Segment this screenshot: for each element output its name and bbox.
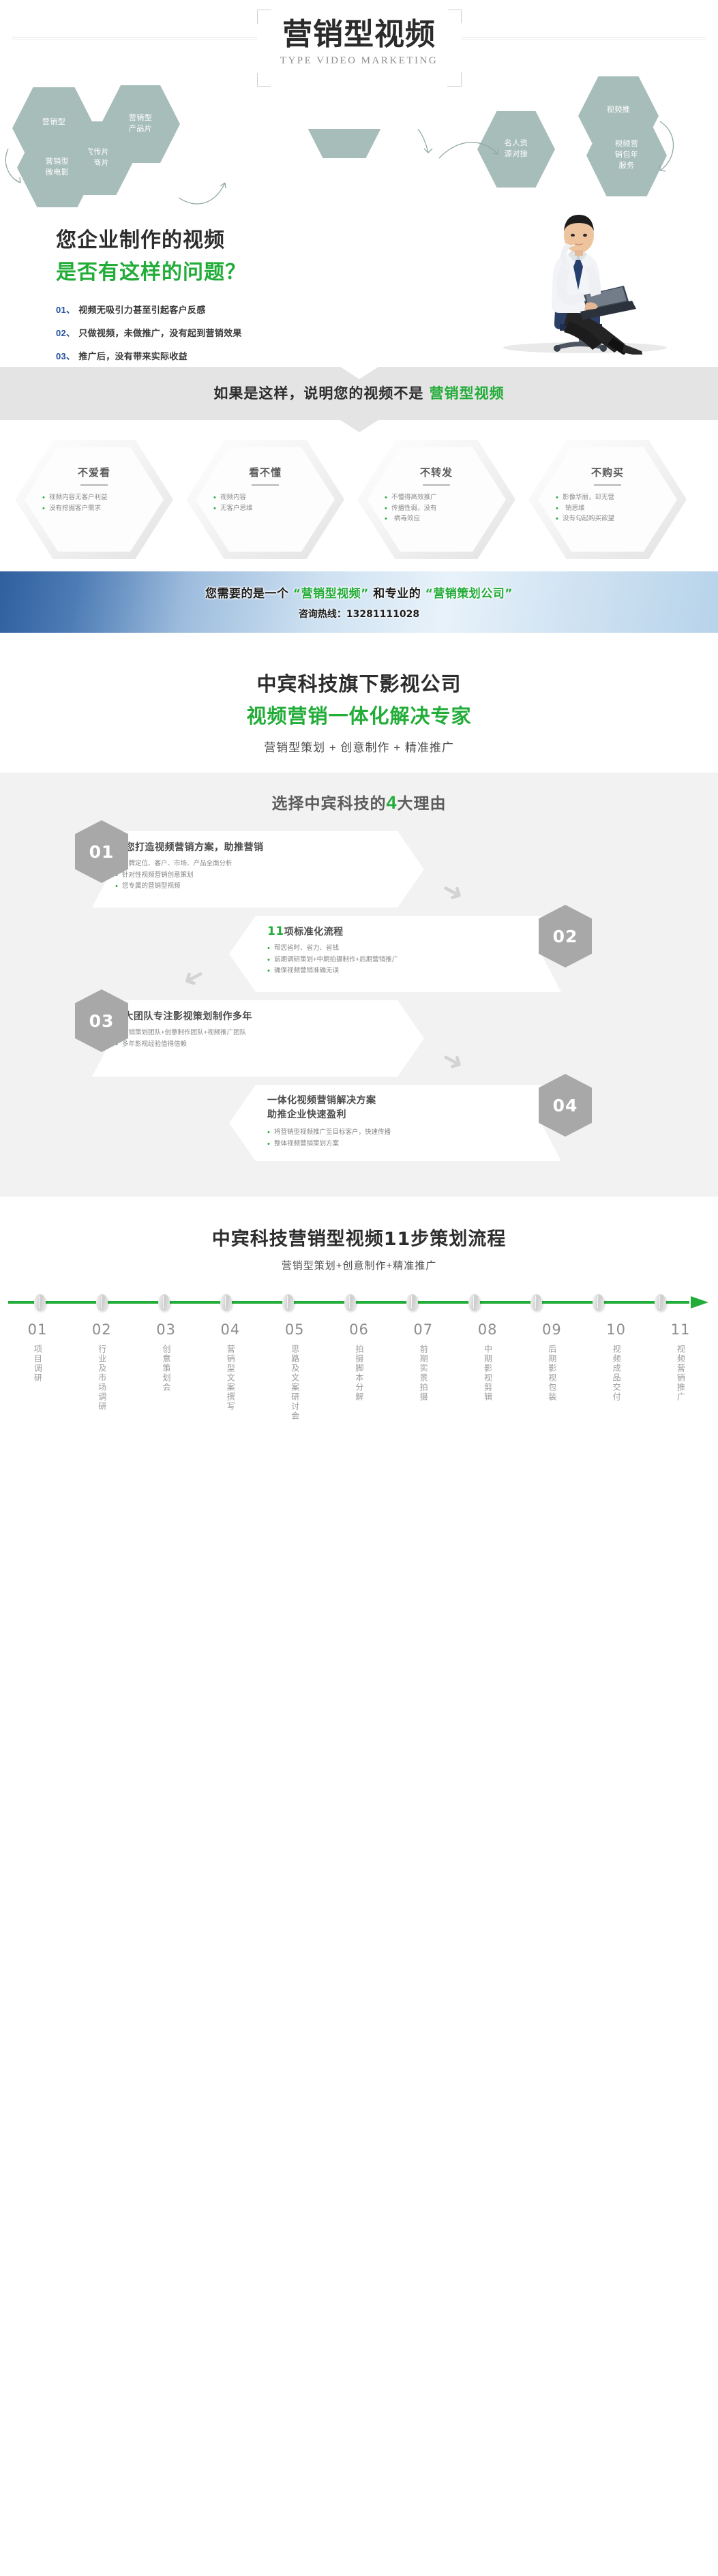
step-item[interactable]: 11 视频营销推广 (661, 1321, 700, 1424)
reasons-section: 选择中宾科技的4大理由 帮您打造视频营销方案，助推营销 品牌定位、客户、市场、产… (0, 773, 718, 1197)
reason-badge-02: 02 (539, 905, 592, 968)
reasons-title-number: 4 (386, 792, 397, 813)
steps-title: 中宾科技营销型视频11步策划流程 (0, 1224, 718, 1250)
timeline-node-icon (530, 1294, 542, 1311)
problem-item-text: 推广后，没有带来实际收益 (78, 351, 188, 361)
problem-hex-row: 不爱看 视频内容无客户利益 没有挖掘客户需求 看不懂 视频内容 无客户思维 不转… (0, 440, 718, 559)
reason-heading-number: 11 (267, 925, 284, 938)
reason-heading-text: 大团队专注影视策划制作多年 (123, 1011, 252, 1022)
problem-item-text: 只做视频，未做推广，没有起到营销效果 (78, 328, 241, 338)
reason-row: 11项标准化流程 帮您省时、省力、省钱 前期调研策划+中期拍摄制作+后期营销推广… (0, 916, 718, 994)
step-number: 04 (211, 1321, 250, 1338)
reasons-title-suffix: 大理由 (398, 794, 447, 812)
problem-hex-bullet: 无客户思维 (216, 503, 314, 514)
problem-item-number: 03、 (56, 351, 75, 361)
page-header: 营销型视频 TYPE VIDEO MARKETING (0, 0, 718, 82)
reason-heading: 11项标准化流程 (267, 925, 534, 938)
curved-arrow-icon: ➜ (178, 961, 209, 995)
step-item[interactable]: 04 营销型文案撰写 (211, 1321, 250, 1424)
reason-row: 帮您打造视频营销方案，助推营销 品牌定位、客户、市场、产品全面分析 针对性视频营… (0, 831, 718, 910)
reason-row: 一体化视频营销解决方案 助推企业快速盈利 将营销型视频推广至目标客户，快速传播 … (0, 1085, 718, 1163)
problem-hex-bullet: 视频内容 (216, 492, 314, 503)
problem-hex-bullet: 传播性弱，没有 (387, 503, 485, 514)
step-number: 07 (404, 1321, 443, 1338)
step-number: 01 (18, 1321, 57, 1338)
problem-hex-title: 看不懂 (216, 465, 314, 479)
reasons-title-prefix: 选择中宾科技的 (271, 794, 386, 812)
blue-band: 您需要的是一个 “营销型视频” 和专业的 “营销策划公司” 咨询热线：13281… (0, 571, 718, 633)
reason-bullet: 营销策划团队+创意制作团队+视频推广团队 (115, 1028, 397, 1039)
problem-hex-bullet-cont: 销思维 (558, 503, 657, 514)
step-label: 营销型文案撰写 (222, 1345, 238, 1411)
timeline-node-icon (220, 1294, 232, 1311)
reason-bullet: 整体视频营销策划方案 (267, 1139, 534, 1150)
step-number: 11 (661, 1321, 700, 1338)
step-label: 思路及文案研讨会 (287, 1345, 303, 1421)
step-label: 项目调研 (30, 1345, 46, 1383)
problem-hex-title: 不爱看 (45, 465, 143, 479)
cta-middle: 和专业的 (373, 587, 421, 601)
steps-grid: 01 项目调研 02 行业及市场调研 03 创意策划会 04 营销型文案撰写 0… (0, 1321, 718, 1424)
step-label: 拍摄脚本分解 (351, 1345, 367, 1402)
problem-hex-bullet: 没有挖掘客户需求 (45, 503, 143, 514)
reason-heading: 一体化视频营销解决方案 助推企业快速盈利 (267, 1094, 534, 1122)
title-underline (594, 484, 621, 486)
problem-hex-bullet: 影像华丽，却无营 (558, 492, 657, 503)
curved-arrow-icon: ➜ (437, 1045, 468, 1078)
timeline-node-icon (96, 1294, 108, 1311)
reason-card-01[interactable]: 帮您打造视频营销方案，助推营销 品牌定位、客户、市场、产品全面分析 针对性视频营… (92, 831, 424, 908)
timeline-arrow-icon (691, 1296, 708, 1308)
reason-row: 3大团队专注影视策划制作多年 营销策划团队+创意制作团队+视频推广团队 多年影视… (0, 1000, 718, 1079)
cta-quote-2: “营销策划公司” (425, 587, 513, 601)
timeline-node-icon (468, 1294, 480, 1311)
step-item[interactable]: 10 视频成品交付 (597, 1321, 636, 1424)
notch-bottom-icon (340, 420, 378, 432)
reason-bullet: 多年影视经验值得信赖 (115, 1039, 397, 1051)
timeline-node-icon (655, 1294, 666, 1311)
reason-bullet: 前期调研策划+中期拍摄制作+后期营销推广 (267, 955, 534, 966)
step-item[interactable]: 07 前期实景拍摄 (404, 1321, 443, 1424)
problem-hex-bullet-cont: 病毒效应 (387, 513, 485, 524)
reason-card-04[interactable]: 一体化视频营销解决方案 助推企业快速盈利 将营销型视频推广至目标客户，快速传播 … (229, 1085, 561, 1161)
page-title: 营销型视频 (257, 10, 462, 53)
corner-bracket-icon (257, 73, 271, 87)
step-number: 05 (275, 1321, 314, 1338)
problem-item-text: 视频无吸引力甚至引起客户反感 (78, 305, 205, 315)
company-tagline: 营销型策划 + 创意制作 + 精准推广 (0, 738, 718, 755)
step-item[interactable]: 01 项目调研 (18, 1321, 57, 1424)
reason-heading: 帮您打造视频营销方案，助推营销 (115, 840, 397, 854)
problem-hex-title: 不购买 (558, 465, 657, 479)
timeline-node-icon (406, 1294, 418, 1311)
reason-heading-text: 项标准化流程 (284, 927, 344, 938)
step-item[interactable]: 02 行业及市场调研 (82, 1321, 121, 1424)
reasons-title: 选择中宾科技的4大理由 (0, 790, 718, 813)
company-headline-2: 视频营销一体化解决专家 (0, 700, 718, 729)
problem-hex-card[interactable]: 看不懂 视频内容 无客户思维 (186, 440, 344, 559)
problem-hex-bullet: 不懂得高效推广 (387, 492, 485, 503)
problem-hex-bullet: 没有勾起购买欲望 (558, 513, 657, 524)
reason-badge-04: 04 (539, 1074, 592, 1137)
reason-bullet: 帮您省时、省力、省钱 (267, 943, 534, 955)
company-intro-section: 中宾科技旗下影视公司 视频营销一体化解决专家 营销型策划 + 创意制作 + 精准… (0, 648, 718, 773)
cta-quote-1: “营销型视频” (293, 587, 369, 601)
step-number: 08 (468, 1321, 507, 1338)
step-label: 后期影视包装 (544, 1345, 560, 1402)
reason-bullet: 品牌定位、客户、市场、产品全面分析 (115, 858, 397, 870)
step-number: 03 (147, 1321, 186, 1338)
steps-subtitle: 营销型策划+创意制作+精准推广 (0, 1258, 718, 1272)
cta-hotline[interactable]: 咨询热线：13281111028 (299, 607, 419, 620)
curved-arrow-icon: ➜ (437, 875, 468, 909)
problem-hex-card[interactable]: 不转发 不懂得高效推广 传播性弱，没有 病毒效应 (357, 440, 515, 559)
reason-card-02[interactable]: 11项标准化流程 帮您省时、省力、省钱 前期调研策划+中期拍摄制作+后期营销推广… (229, 916, 561, 992)
company-headline-1: 中宾科技旗下影视公司 (0, 668, 718, 697)
cta-headline: 您需要的是一个 “营销型视频” 和专业的 “营销策划公司” (205, 584, 513, 601)
step-item[interactable]: 06 拍摄脚本分解 (339, 1321, 378, 1424)
steps-title-suffix: 步策划流程 (410, 1229, 506, 1250)
cta-blue-banner: 您需要的是一个 “营销型视频” 和专业的 “营销策划公司” 咨询热线：13281… (0, 559, 718, 648)
gray-text-normal: 如果是这样，说明您的视频不是 (213, 385, 423, 402)
step-label: 行业及市场调研 (94, 1345, 110, 1411)
timeline-node-icon (593, 1294, 604, 1311)
reason-bullet: 确保视频营销准确无误 (267, 965, 534, 977)
timeline-node-icon (158, 1294, 170, 1311)
title-underline (423, 484, 450, 486)
steps-title-prefix: 中宾科技营销型视频 (212, 1229, 384, 1250)
step-label: 前期实景拍摄 (415, 1345, 431, 1402)
problem-item-number: 02、 (56, 328, 75, 338)
notch-top-icon (340, 367, 378, 379)
step-item[interactable]: 09 后期影视包装 (532, 1321, 571, 1424)
steps-title-number: 11 (384, 1229, 411, 1250)
step-item[interactable]: 03 创意策划会 (147, 1321, 186, 1424)
step-number: 02 (82, 1321, 121, 1338)
problem-hex-card[interactable]: 不爱看 视频内容无客户利益 没有挖掘客户需求 (15, 440, 173, 559)
reason-card-03[interactable]: 3大团队专注影视策划制作多年 营销策划团队+创意制作团队+视频推广团队 多年影视… (92, 1000, 424, 1077)
timeline-node-icon (282, 1294, 294, 1311)
problem-hex-bullet: 视频内容无客户利益 (45, 492, 143, 503)
header-title-box: 营销型视频 TYPE VIDEO MARKETING (257, 10, 462, 129)
problem-statement-section: 您企业制作的视频 是否有这样的问题？ 01、 视频无吸引力甚至引起客户反感 02… (0, 208, 718, 361)
problem-hex-card[interactable]: 不购买 影像华丽，却无营 销思维 没有勾起购买欲望 (528, 440, 687, 559)
reason-bullet: 针对性视频营销创意策划 (115, 870, 397, 882)
step-label: 创意策划会 (158, 1345, 174, 1392)
title-underline (80, 484, 108, 486)
step-item[interactable]: 05 思路及文案研讨会 (275, 1321, 314, 1424)
step-number: 09 (532, 1321, 571, 1338)
reason-heading: 3大团队专注影视策划制作多年 (115, 1009, 397, 1023)
step-number: 10 (597, 1321, 636, 1338)
cta-prefix: 您需要的是一个 (205, 587, 289, 601)
title-underline (252, 484, 279, 486)
step-label: 视频营销推广 (673, 1345, 689, 1402)
reason-bullet: 将营销型视频推广至目标客户，快速传播 (267, 1127, 534, 1139)
page-subtitle: TYPE VIDEO MARKETING (257, 55, 462, 67)
steps-timeline (0, 1290, 718, 1315)
step-label: 中期影视剪辑 (480, 1345, 496, 1402)
step-number: 06 (339, 1321, 378, 1338)
problem-item-number: 01、 (56, 305, 75, 315)
gray-conclusion-banner: 如果是这样，说明您的视频不是 营销型视频 (0, 361, 718, 440)
workflow-steps-section: 中宾科技营销型视频11步策划流程 营销型策划+创意制作+精准推广 01 项目调研… (0, 1197, 718, 1445)
reason-bullet: 您专属的营销型视频 (115, 881, 397, 893)
timeline-node-icon (34, 1294, 46, 1311)
timeline-node-icon (344, 1294, 356, 1311)
step-label: 视频成品交付 (608, 1345, 624, 1402)
gray-text-accent: 营销型视频 (430, 385, 505, 402)
problem-hex-title: 不转发 (387, 465, 485, 479)
step-item[interactable]: 08 中期影视剪辑 (468, 1321, 507, 1424)
businessman-photo (466, 208, 698, 355)
corner-bracket-icon (448, 10, 462, 23)
